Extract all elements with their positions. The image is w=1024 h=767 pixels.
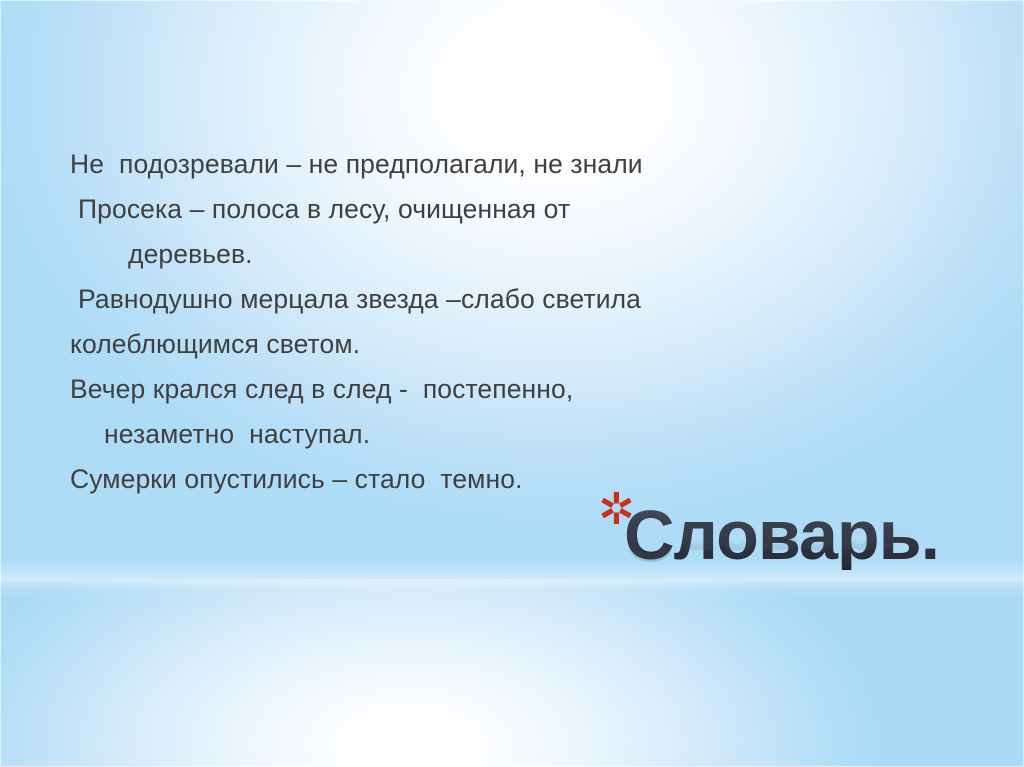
body-line-1: Не подозревали – не предполагали, не зна… <box>0 142 1024 187</box>
body-line-4: Равнодушно мерцала звезда –слабо светила <box>0 277 1024 322</box>
body-line-5: колеблющимся светом. <box>0 322 1024 367</box>
page-title-reflection: Словарь. <box>624 502 939 572</box>
body-line-7: незаметно наступал. <box>0 412 1024 457</box>
body-text-block: Не подозревали – не предполагали, не зна… <box>0 142 1024 502</box>
body-line-6: Вечер крался след в след - постепенно, <box>0 367 1024 412</box>
slide-canvas: Не подозревали – не предполагали, не зна… <box>0 0 1024 767</box>
body-line-3: деревьев. <box>0 232 1024 277</box>
body-line-2: Просека – полоса в лесу, очищенная от <box>0 187 1024 232</box>
slide-title-block: Словарь. Словарь. <box>624 500 939 630</box>
